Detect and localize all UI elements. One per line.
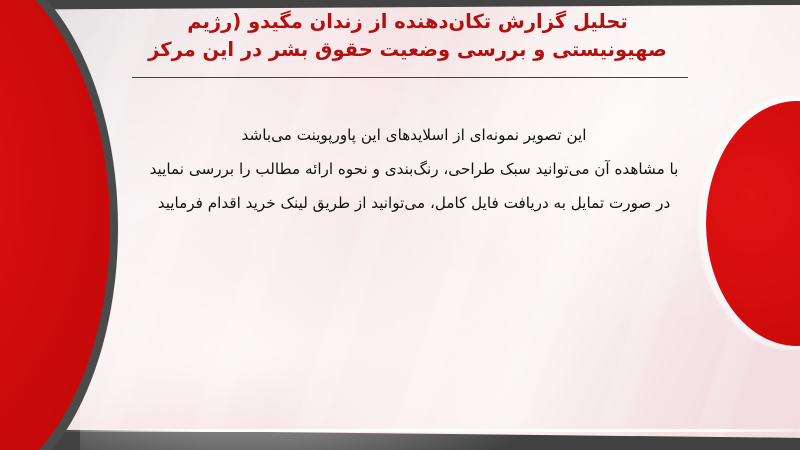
slide-body: این تصویر نمونه‌ای از اسلایدهای این پاور…	[120, 118, 708, 220]
title-underline-rule	[132, 77, 688, 78]
slide-title-line-2: صهیونیستی و بررسی وضعیت حقوق بشر در این …	[120, 36, 695, 64]
slide-title: تحلیل گزارش تکان‌دهنده از زندان مگیدو (ر…	[120, 8, 695, 64]
slide-content-panel	[0, 0, 800, 450]
slide-title-line-1: تحلیل گزارش تکان‌دهنده از زندان مگیدو (ر…	[120, 8, 695, 36]
slide-body-line-3: در صورت تمایل به دریافت فایل کامل، می‌تو…	[120, 186, 708, 220]
presentation-slide: تحلیل گزارش تکان‌دهنده از زندان مگیدو (ر…	[0, 0, 800, 450]
slide-body-line-2: با مشاهده آن می‌توانید سبک طراحی، رنگ‌بن…	[120, 152, 708, 186]
slide-body-line-1: این تصویر نمونه‌ای از اسلایدهای این پاور…	[120, 118, 708, 152]
